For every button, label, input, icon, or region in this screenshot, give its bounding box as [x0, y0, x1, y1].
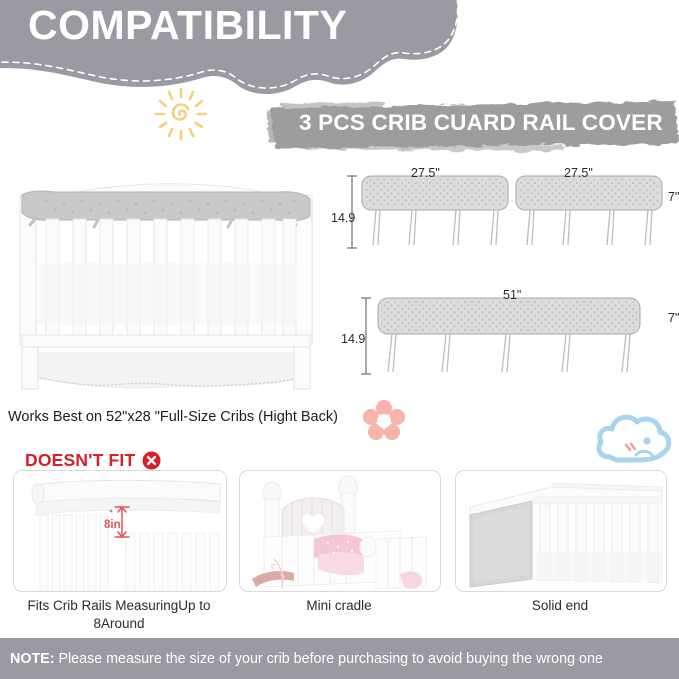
- note-text: NOTE: Please measure the size of your cr…: [0, 651, 603, 667]
- panel-caption-1: Mini cradle: [239, 597, 439, 615]
- note-body: Please measure the size of your crib bef…: [54, 651, 602, 667]
- red-circle-x-icon: [142, 451, 161, 470]
- crib-product-photo: [6, 163, 326, 405]
- dim-depth-top-right: 7": [668, 190, 679, 204]
- mini-cradle-photo: [240, 471, 440, 591]
- note-bar: NOTE: Please measure the size of your cr…: [0, 638, 679, 679]
- flower-icon: [363, 400, 405, 442]
- crib-rail-closeup-photo: [14, 471, 226, 591]
- panel-caption-2: Solid end: [455, 597, 665, 615]
- rail-cover-top-right: [516, 176, 662, 245]
- infographic-page: COMPATIBILITY: [0, 0, 679, 679]
- rail-dimension-diagrams: [330, 160, 679, 390]
- rail-cover-long: [378, 298, 640, 372]
- solid-end-crib-photo: [456, 471, 666, 591]
- panel-solid-end: [455, 470, 667, 592]
- panel-mini-cradle: [239, 470, 441, 592]
- panel-crib-rail-too-wide: 8in: [13, 470, 227, 592]
- doesnt-fit-heading: DOESN'T FIT: [25, 450, 161, 471]
- banner-title: 3 PCS CRIB CUARD RAIL COVER: [299, 110, 663, 136]
- note-prefix: NOTE:: [10, 651, 54, 667]
- dim-height-top: 14.9: [331, 211, 355, 225]
- sun-icon: [150, 83, 212, 145]
- dim-width-top-left: 27.5": [411, 166, 440, 180]
- sad-cloud-icon: [592, 405, 674, 475]
- doesnt-fit-label: DOESN'T FIT: [25, 450, 135, 471]
- works-best-text: Works Best on 52"x28 "Full-Size Cribs (H…: [8, 409, 338, 425]
- measure-label-8in: 8in: [104, 519, 121, 531]
- dim-width-top-right: 27.5": [564, 166, 593, 180]
- dim-height-long: 14.9: [341, 332, 365, 346]
- dim-depth-long: 7": [668, 311, 679, 325]
- panel-caption-0: Fits Crib Rails MeasuringUp to 8Around: [13, 597, 225, 632]
- dim-width-long: 51": [503, 288, 521, 302]
- page-title: COMPATIBILITY: [28, 2, 347, 49]
- rail-cover-top-left: [362, 176, 508, 245]
